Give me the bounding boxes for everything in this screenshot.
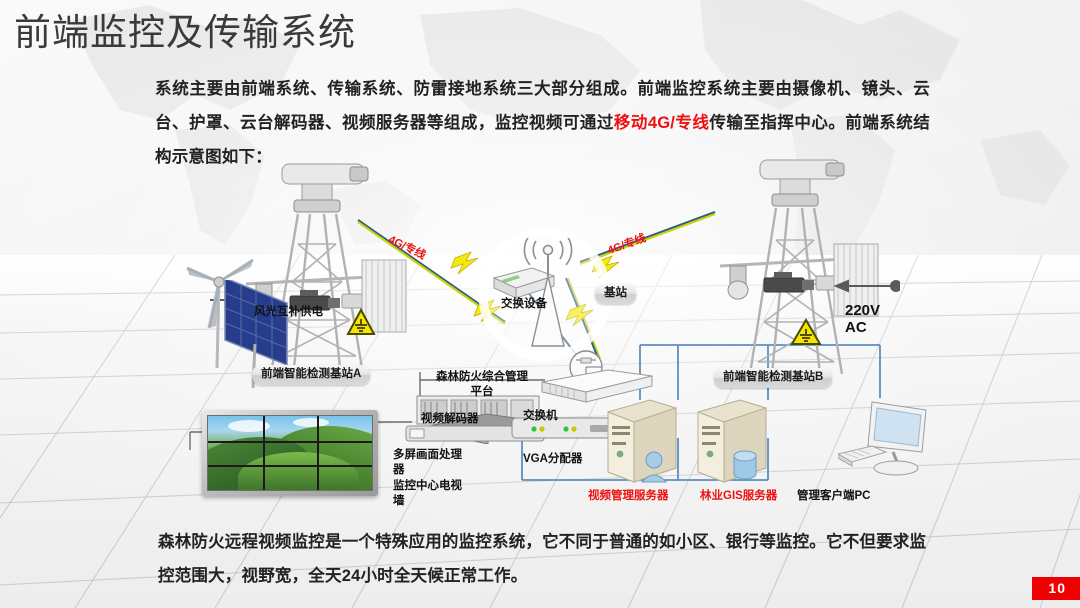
base-station-label: 基站 [595, 284, 636, 304]
summary-paragraph: 森林防火远程视频监控是一个特殊应用的监控系统，它不同于普通的如小区、银行等监控。… [158, 525, 933, 593]
station-a-label: 前端智能检测基站A [252, 365, 370, 385]
video-wall-bezel-grid [208, 416, 372, 490]
ptz-camera-icon [282, 164, 368, 212]
front-end-station-b-graphic [700, 154, 900, 379]
slide-root: 前端监控及传输系统 系统主要由前端系统、传输系统、防雷接地系统三大部分组成。前端… [0, 0, 1080, 608]
mgmt-platform-label: 森林防火综合管理平台 [434, 370, 530, 400]
vga-splitter-label: VGA分配器 [523, 452, 582, 466]
keyboard-icon [838, 446, 886, 466]
client-pc-icon [838, 398, 938, 484]
power-220v-line1: 220V [845, 302, 880, 319]
solar-wind-power-label: 风光互补供电 [254, 305, 323, 319]
page-title: 前端监控及传输系统 [14, 2, 356, 56]
power-220v-label: 220V AC [845, 302, 880, 336]
video-decoder-label: 视频解码器 [421, 412, 479, 426]
forestry-gis-server-label: 林业GIS服务器 [700, 489, 777, 503]
ptz-camera-icon [760, 160, 844, 206]
station-b-label: 前端智能检测基站B [714, 368, 832, 388]
video-management-server-icon [600, 398, 682, 488]
power-220v-line2: AC [845, 319, 880, 336]
page-number-badge: 10 [1032, 577, 1080, 600]
video-wall-icon [202, 410, 378, 496]
forestry-gis-server-icon [690, 398, 772, 488]
video-wall-screen [207, 415, 373, 491]
video-management-server-label: 视频管理服务器 [588, 489, 669, 503]
client-pc-label: 管理客户端PC [797, 489, 870, 503]
switch-device-label: 交换设备 [501, 297, 547, 311]
multiscreen-processor-label: 多屏画面处理器 [393, 448, 467, 478]
dome-camera-icon [728, 266, 748, 299]
grid-antenna-icon [362, 260, 406, 332]
tv-wall-label: 监控中心电视墙 [393, 479, 463, 509]
intro-text-highlight: 移动4G/专线 [614, 114, 709, 132]
switch-label: 交换机 [523, 409, 558, 423]
system-architecture-diagram [0, 150, 1080, 530]
box-camera-icon [764, 272, 814, 292]
database-cylinder-icon [734, 451, 756, 479]
